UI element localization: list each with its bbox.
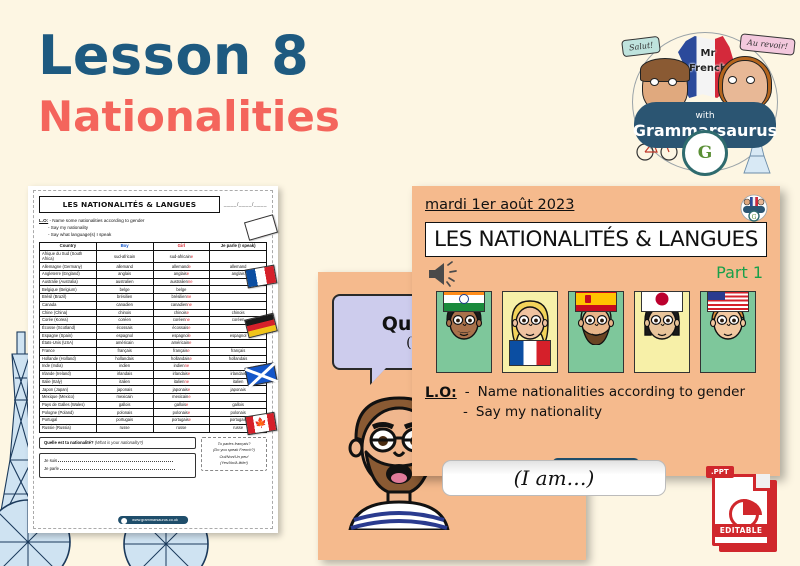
cell-country: Russie (Russia) <box>40 424 97 432</box>
cell-country: Chine (China) <box>40 309 97 317</box>
cell-boy: coréen <box>96 317 153 325</box>
germany-flag-icon <box>244 313 278 339</box>
cell-boy: portugais <box>96 417 153 425</box>
table-row: Allemagne (Germany)allemandallemandealle… <box>40 263 267 271</box>
man-glasses-left <box>650 78 659 86</box>
worksheet-question: Quelle est ta nationalité? (What is your… <box>39 437 196 449</box>
man-hair <box>640 58 690 82</box>
title-block: Lesson 8 Nationalities <box>38 28 340 139</box>
slide-learning-objectives: L.O: - Name nationalities according to g… <box>425 383 767 423</box>
speaker-icon[interactable] <box>427 261 461 287</box>
worksheet-lo-label: L.O: <box>39 218 48 223</box>
slide-lo-item-1: Say my nationality <box>476 403 602 423</box>
usa-flag-icon <box>707 291 749 312</box>
cell-country: Angleterre (England) <box>40 271 97 279</box>
cell-country: Pologne (Poland) <box>40 409 97 417</box>
table-row: Écosse (Scotland)écossaisécossaise <box>40 324 267 332</box>
table-row: Japon (Japan)japonaisjaponaisejaponais <box>40 386 267 394</box>
cell-country: Japon (Japan) <box>40 386 97 394</box>
ppt-extension-label: .PPT <box>706 466 734 478</box>
japan-flag-icon <box>641 291 683 312</box>
table-row: Chine (China)chinoischinoisechinois <box>40 309 267 317</box>
cell-girl: américaine <box>153 340 210 348</box>
cell-country: Inde (India) <box>40 363 97 371</box>
nationality-card-france[interactable] <box>502 291 558 373</box>
col-country: Country <box>40 243 97 251</box>
table-row: Brésil (Brazil)brésilienbrésilienne <box>40 294 267 302</box>
logo-with-text: with <box>695 111 714 121</box>
col-boy: Boy <box>96 243 153 251</box>
map-label-line1: Mr <box>701 48 716 59</box>
slide-controls-row: Part 1 <box>425 259 767 289</box>
cell-country: Corée (Korea) <box>40 317 97 325</box>
england-flag-icon <box>244 214 278 241</box>
table-row: États-Unis (USA)américainaméricaine <box>40 340 267 348</box>
cell-boy: espagnol <box>96 332 153 340</box>
cell-boy: gallois <box>96 401 153 409</box>
cell-boy: italien <box>96 378 153 386</box>
cell-country: Allemagne (Germany) <box>40 263 97 271</box>
table-row: Mexique (Mexico)mexicainmexicaine <box>40 394 267 402</box>
cell-boy: indien <box>96 363 153 371</box>
table-row: Italie (Italy)italienitalienneitalien <box>40 378 267 386</box>
cell-country: Mexique (Mexico) <box>40 394 97 402</box>
cell-boy: allemand <box>96 263 153 271</box>
table-row: Afrique du Sud (South Africa)sud-africai… <box>40 251 267 263</box>
table-row: Pologne (Poland)polonaispolonaisepolonai… <box>40 409 267 417</box>
cell-girl: indienne <box>153 363 210 371</box>
slide-preview-front[interactable]: mardi 1er août 2023 G LES NATIONALITÉS &… <box>412 186 780 476</box>
answer-label-2: Je parle <box>44 466 59 471</box>
table-row: Portugalportugaisportugaiseportugais <box>40 417 267 425</box>
cell-boy: irlandais <box>96 371 153 379</box>
cell-girl: belge <box>153 286 210 294</box>
cell-boy: belge <box>96 286 153 294</box>
spain-flag-icon <box>575 291 617 312</box>
nationality-card-japan[interactable] <box>634 291 690 373</box>
worksheet-inner: LES NATIONALITÉS & LANGUES ____/____/___… <box>33 190 273 529</box>
cell-boy: américain <box>96 340 153 348</box>
worksheet-lo-item-0: - Name some nationalities according to g… <box>49 218 144 223</box>
cell-boy: sud-africain <box>96 251 153 263</box>
france-flag-icon <box>245 265 278 289</box>
worksheet-answer-lines[interactable]: Je suis Je parle <box>39 453 196 479</box>
card-face-icon <box>509 299 551 345</box>
cell-country: Irlande (Ireland) <box>40 371 97 379</box>
cell-country: Italie (Italy) <box>40 378 97 386</box>
poster-canvas: Lesson 8 Nationalities Mr French Salut! … <box>0 0 800 566</box>
cell-boy: mexicain <box>96 394 153 402</box>
cell-boy: russe <box>96 424 153 432</box>
cell-boy: chinois <box>96 309 153 317</box>
cell-country: Brésil (Brazil) <box>40 294 97 302</box>
answer-blank-1[interactable] <box>58 461 173 462</box>
cell-girl: canadienne <box>153 301 210 309</box>
cell-boy: polonais <box>96 409 153 417</box>
cell-girl: polonaise <box>153 409 210 417</box>
nationality-card-row <box>425 291 767 373</box>
lo-dash-0: - <box>465 383 470 403</box>
slide-lo-item-0: Name nationalities according to gender <box>478 383 745 403</box>
woman-glasses-left <box>728 76 737 84</box>
lo-line-1: - Say my nationality <box>425 403 767 423</box>
page-subtitle: Nationalities <box>38 95 340 139</box>
cell-country: Écosse (Scotland) <box>40 324 97 332</box>
worksheet-flag-strip <box>246 218 286 463</box>
worksheet-lo-item-1: - Say my nationality <box>39 224 267 231</box>
cell-country: France <box>40 347 97 355</box>
cell-girl: sud-africaine <box>153 251 210 263</box>
table-row: Hollande (Holland)hollandaishollandaiseh… <box>40 355 267 363</box>
cell-boy: hollandais <box>96 355 153 363</box>
worksheet-learning-objectives: L.O: - Name some nationalities according… <box>39 217 267 238</box>
ppt-editable-label: EDITABLE <box>714 524 769 537</box>
table-row: Australie (Australia)australienaustralie… <box>40 278 267 286</box>
table-row: Irlande (Ireland)irlandaisirlandaiseirla… <box>40 371 267 379</box>
cell-girl: coréenne <box>153 317 210 325</box>
cell-girl: japonaise <box>153 386 210 394</box>
nationalities-table-body: Afrique du Sud (South Africa)sud-africai… <box>40 251 267 432</box>
cell-girl: brésilienne <box>153 294 210 302</box>
lo-dash-1: - <box>463 403 468 423</box>
cell-boy: canadien <box>96 301 153 309</box>
worksheet-question-fr: Quelle est ta nationalité? <box>44 440 94 445</box>
cell-country: Portugal <box>40 417 97 425</box>
cell-country: États-Unis (USA) <box>40 340 97 348</box>
table-row: Canadacanadiencanadienne <box>40 301 267 309</box>
cell-boy: japonais <box>96 386 153 394</box>
cell-girl: portugaise <box>153 417 210 425</box>
cell-boy: australien <box>96 278 153 286</box>
cell-girl: hollandaise <box>153 355 210 363</box>
cell-boy: écossais <box>96 324 153 332</box>
brand-logo: Mr French Salut! Au revoir! <box>618 18 790 178</box>
cell-country: Canada <box>40 301 97 309</box>
cell-boy: français <box>96 347 153 355</box>
svg-text:G: G <box>752 214 757 221</box>
cell-girl: italienne <box>153 378 210 386</box>
grammarsaurus-badge-icon: G <box>682 130 728 176</box>
worksheet-bottom: Quelle est ta nationalité? (What is your… <box>39 437 267 479</box>
cell-girl: espagnole <box>153 332 210 340</box>
cell-country: Pays de Galles (Wales) <box>40 401 97 409</box>
answer-label-1: Je suis <box>44 458 57 463</box>
worksheet-title: LES NATIONALITÉS & LANGUES <box>39 196 220 213</box>
cell-boy: anglais <box>96 271 153 279</box>
cell-girl: galloise <box>153 401 210 409</box>
i-am-answer-box[interactable]: (I am…) <box>442 460 666 496</box>
col-girl: Girl <box>153 243 210 251</box>
cell-country: Espagne (Spain) <box>40 332 97 340</box>
table-row: Angleterre (England)anglaisanglaiseangla… <box>40 271 267 279</box>
slide-title: LES NATIONALITÉS & LANGUES <box>425 222 767 257</box>
man-glasses-right <box>668 78 677 86</box>
ppt-editable-badge[interactable]: EDITABLE .PPT <box>706 466 782 554</box>
cell-girl: écossaise <box>153 324 210 332</box>
nationality-card-usa[interactable] <box>700 291 756 373</box>
cell-country: Afrique du Sud (South Africa) <box>40 251 97 263</box>
cell-country: Hollande (Holland) <box>40 355 97 363</box>
india-flag-icon <box>443 291 485 312</box>
scotland-flag-icon <box>244 362 277 386</box>
worksheet-date-blank: ____/____/____ <box>224 202 267 208</box>
cell-girl: française <box>153 347 210 355</box>
worksheet-titlebar: LES NATIONALITÉS & LANGUES ____/____/___… <box>39 196 267 213</box>
answer-blank-2[interactable] <box>60 469 175 470</box>
france-flag-icon <box>509 340 551 366</box>
nationality-card-india[interactable] <box>436 291 492 373</box>
slide-lo-label: L.O: <box>425 383 457 403</box>
badge-letter: G <box>698 143 713 163</box>
table-row: Corée (Korea)coréencoréennecoréen <box>40 317 267 325</box>
cell-girl: russe <box>153 424 210 432</box>
cell-girl: irlandaise <box>153 371 210 379</box>
table-row: Espagne (Spain)espagnolespagnoleespagnol <box>40 332 267 340</box>
ppt-sheet: EDITABLE <box>712 474 770 546</box>
cell-girl: anglaise <box>153 271 210 279</box>
worksheet-preview[interactable]: LES NATIONALITÉS & LANGUES ____/____/___… <box>28 186 278 533</box>
worksheet-question-en: (What is your nationality?) <box>95 440 143 445</box>
cell-girl: australienne <box>153 278 210 286</box>
cell-girl: mexicaine <box>153 394 210 402</box>
nationalities-table: Country Boy Girl Je parle (I speak) Afri… <box>39 242 267 432</box>
table-row: Inde (India)indienindienne <box>40 363 267 371</box>
slide-date: mardi 1er août 2023 <box>425 197 767 213</box>
table-header-row: Country Boy Girl Je parle (I speak) <box>40 243 267 251</box>
cell-country: Belgique (Belgium) <box>40 286 97 294</box>
worksheet-lo-item-2: - Say what language(s) I speak <box>39 231 267 238</box>
canada-flag-icon <box>245 412 278 435</box>
table-row: Belgique (Belgium)belgebelge <box>40 286 267 294</box>
cell-girl: chinoise <box>153 309 210 317</box>
page-title: Lesson 8 <box>38 28 340 85</box>
lo-line-0: L.O: - Name nationalities according to g… <box>425 383 767 403</box>
table-row: Pays de Galles (Wales)galloisgalloisegal… <box>40 401 267 409</box>
part-label: Part 1 <box>716 263 763 282</box>
cell-country: Australie (Australia) <box>40 278 97 286</box>
cell-boy: brésilien <box>96 294 153 302</box>
table-row: Russie (Russia)russerusserusse <box>40 424 267 432</box>
cell-girl: allemande <box>153 263 210 271</box>
worksheet-url[interactable]: www.grammarsaurus.co.uk <box>118 516 188 524</box>
woman-glasses-right <box>746 76 755 84</box>
table-row: Francefrançaisfrançaisefrançais <box>40 347 267 355</box>
ppt-folded-corner <box>753 474 770 491</box>
nationality-card-spain[interactable] <box>568 291 624 373</box>
slide-brand-logo-icon: G <box>740 194 768 222</box>
